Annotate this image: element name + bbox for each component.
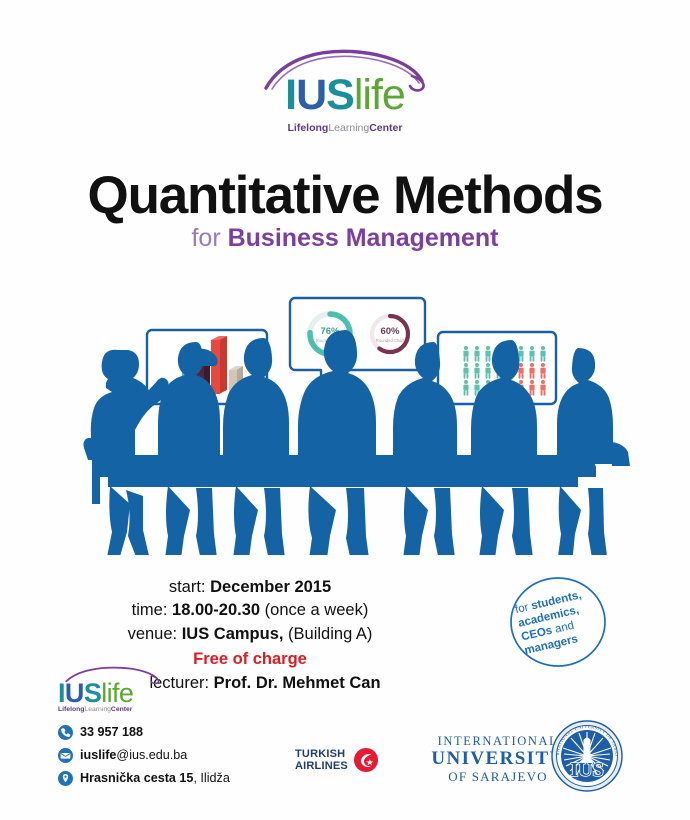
contact-email-user: iuslife (80, 748, 116, 762)
lecturer-name: Prof. Dr. Mehmet Can (214, 674, 381, 692)
footer-tagline-lifelong: Lifelong (58, 706, 84, 713)
detail-row-time: time: 18.00-20.30 (once a week) (0, 599, 500, 622)
poster-canvas: IUSlife LifelongLearningCenter Quantitat… (0, 0, 690, 820)
footer-logo-i: I (58, 678, 65, 708)
turkish-airlines-logo: TURKISH AIRLINES (295, 744, 400, 776)
logo-tagline: LifelongLearningCenter (260, 122, 430, 134)
contact-address-street: Hrasnička cesta 15 (80, 771, 193, 785)
contact-block: 33 957 188 iuslife@ius.edu.ba Hrasnička … (58, 722, 318, 791)
detail-value-start: December 2015 (210, 578, 331, 596)
subtitle-highlight: Business Management (228, 224, 499, 252)
subtitle-for: for (191, 224, 227, 252)
donut-60-caption: Rounded Chart (376, 338, 405, 343)
footer-tagline-center: Center (111, 706, 133, 713)
contact-row-email[interactable]: iuslife@ius.edu.ba (58, 745, 318, 766)
tagline-lifelong: Lifelong (288, 122, 329, 134)
detail-value-venue: IUS Campus, (182, 625, 284, 643)
detail-suffix-time: (once a week) (260, 601, 368, 619)
footer-tagline-learning: Learning (84, 706, 110, 713)
footer-logo-tagline: LifelongLearningCenter (58, 706, 170, 713)
detail-label-start: start: (169, 578, 210, 596)
contact-email-domain: @ius.edu.ba (116, 748, 187, 762)
footer-iuslife-logo: IUSlife LifelongLearningCenter (58, 666, 170, 718)
contact-row-phone[interactable]: 33 957 188 (58, 722, 318, 743)
illustration: 76% Rounded Chart 60% Rounded Chart (0, 290, 690, 555)
detail-label-time: time: (132, 601, 172, 619)
detail-row-start: start: December 2015 (0, 576, 500, 599)
footer-logo-wordmark: IUSlife (58, 680, 170, 707)
header-logo: IUSlife LifelongLearningCenter (0, 48, 690, 148)
turkish-line-1: TURKISH (295, 748, 348, 760)
contact-address-text: Hrasnička cesta 15, Ilidža (80, 771, 230, 785)
contact-row-address[interactable]: Hrasnička cesta 15, Ilidža (58, 768, 318, 789)
contact-email-text: iuslife@ius.edu.ba (80, 748, 187, 762)
footer-logo-u: U (65, 678, 84, 708)
detail-suffix-venue: (Building A) (283, 625, 372, 643)
detail-value-time: 18.00-20.30 (172, 601, 260, 619)
logo-letter-u: U (296, 71, 326, 119)
tagline-center: Center (369, 122, 402, 134)
seal-initials-text: IUS (570, 759, 603, 781)
footer-logo-life: life (101, 678, 133, 708)
location-pin-icon (58, 771, 73, 786)
turkish-airlines-mark-icon (353, 747, 379, 773)
contact-address-city: , Ilidža (193, 771, 229, 785)
turkish-line-2: AIRLINES (295, 760, 348, 772)
donut-60-value: 60% (380, 326, 400, 337)
logo-letter-i: I (285, 71, 296, 119)
ius-seal-logo: INTERNATIONAL UNIVERSITY OF SARAJEVO IUS (549, 718, 625, 794)
envelope-icon (58, 748, 73, 763)
logo-life-text: life (354, 71, 405, 119)
logo-letter-s: S (326, 71, 354, 119)
detail-row-venue: venue: IUS Campus, (Building A) (0, 623, 500, 646)
page-subtitle: for Business Management (0, 225, 690, 253)
contact-phone-text: 33 957 188 (80, 725, 143, 739)
phone-icon (58, 725, 73, 740)
footer-logo-s: S (84, 678, 101, 708)
logo-wordmark: IUSlife (260, 74, 430, 117)
audience-badge: for students, academics, CEOs and manage… (508, 572, 608, 672)
contact-phone-value: 33 957 188 (80, 725, 143, 739)
iuslife-logo: IUSlife LifelongLearningCenter (260, 48, 430, 136)
silhouette-person-7 (550, 348, 630, 555)
turkish-airlines-text: TURKISH AIRLINES (295, 748, 348, 773)
event-details: start: December 2015 time: 18.00-20.30 (… (0, 576, 500, 672)
page-title: Quantitative Methods (0, 168, 690, 224)
tagline-learning: Learning (328, 122, 369, 134)
detail-label-venue: venue: (128, 625, 182, 643)
